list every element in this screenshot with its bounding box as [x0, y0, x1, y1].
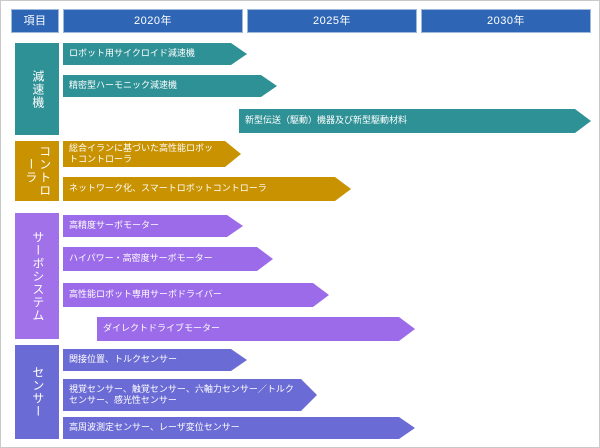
roadmap-bar-servo-1: 高精度サーボモーター	[63, 215, 243, 237]
roadmap-bar-sensor-3: 高周波測定センサー、レーザ変位センサー	[63, 417, 415, 439]
technology-roadmap-chart: 項目 2020年 2025年 2030年 減速機 ロボット用サイクロイド減速機 …	[0, 0, 600, 448]
roadmap-bar-sensor-2: 視覚センサー、触覚センサー、六軸力センサー／トルクセンサー、感光性センサー	[63, 379, 317, 411]
category-label-sensor: センサー	[15, 345, 59, 439]
roadmap-bar-servo-4: ダイレクトドライブモーター	[97, 317, 415, 341]
category-label-servo-system: サーボシステム	[15, 213, 59, 339]
roadmap-bar-servo-2: ハイパワー・高密度サーボモーター	[63, 247, 273, 271]
header-cell-2020: 2020年	[63, 9, 243, 33]
roadmap-bar-controller-1: 総合イランに基づいた高性能ロボットコントローラ	[63, 141, 241, 167]
roadmap-bar-sensor-1: 関接位置、トルクセンサー	[63, 349, 247, 371]
header-cell-item: 項目	[11, 9, 59, 33]
category-label-controller: コントローラ	[15, 141, 59, 201]
header-cell-2025: 2025年	[247, 9, 417, 33]
header-cell-2030: 2030年	[421, 9, 591, 33]
roadmap-bar-controller-2: ネットワーク化、スマートロボットコントローラ	[63, 177, 351, 201]
roadmap-bar-gear-2: 精密型ハーモニック減速機	[63, 75, 277, 97]
roadmap-bar-gear-3: 新型伝送（駆動）機器及び新型駆動材料	[239, 109, 591, 133]
category-label-gear-reducer: 減速機	[15, 43, 59, 135]
roadmap-bar-gear-1: ロボット用サイクロイド減速機	[63, 43, 247, 65]
roadmap-bar-servo-3: 高性能ロボット専用サーボドライバー	[63, 283, 329, 307]
roadmap-header-row: 項目 2020年 2025年 2030年	[1, 1, 600, 37]
